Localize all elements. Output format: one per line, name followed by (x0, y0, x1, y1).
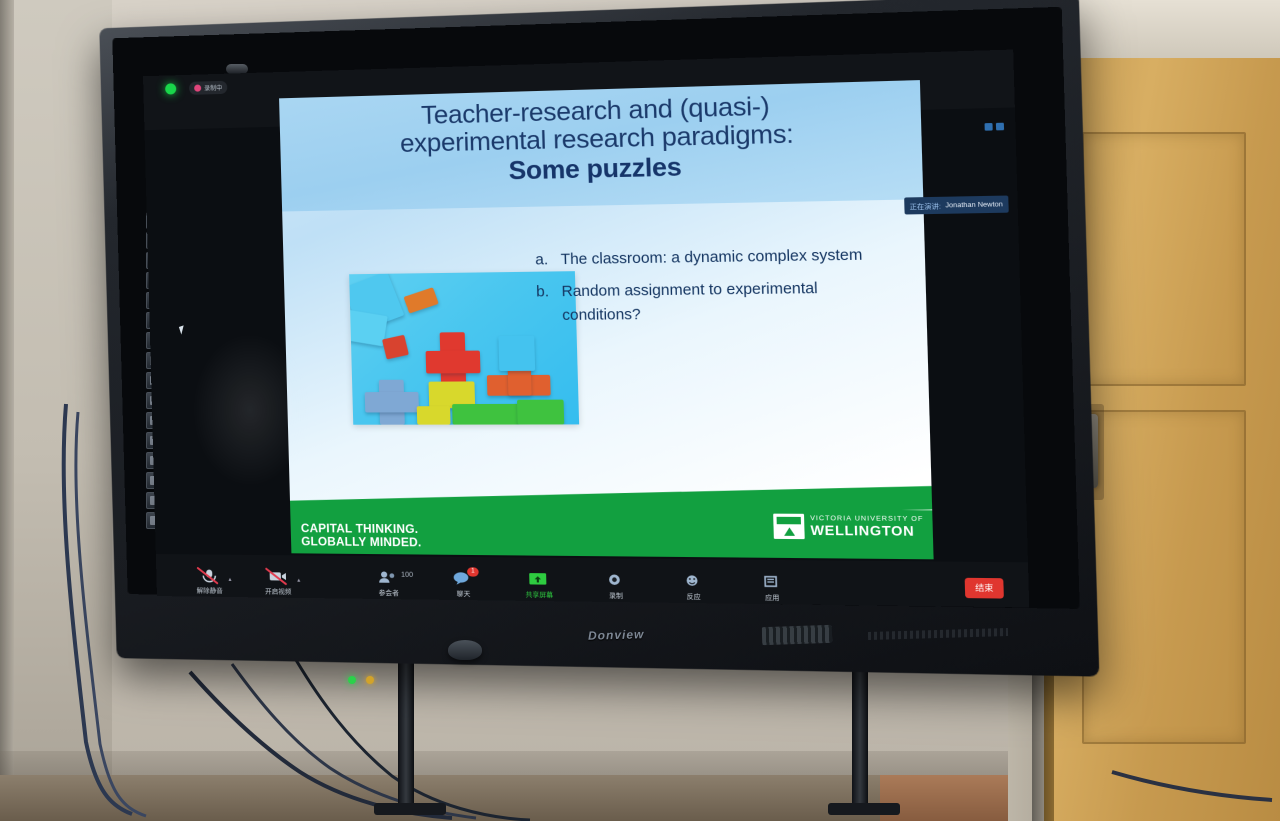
bullet-marker: a. (535, 249, 550, 272)
computer-mouse[interactable] (448, 640, 482, 660)
bullet-text: The classroom: a dynamic complex system (560, 244, 862, 272)
vuw-wordmark: VICTORIA UNIVERSITY OF WELLINGTON (810, 516, 924, 539)
chat-button[interactable]: 1聊天 (439, 571, 488, 598)
participant-count: 100 (401, 572, 413, 579)
chevron-up-icon[interactable]: ▴ (297, 577, 300, 584)
university-logo: VICTORIA UNIVERSITY OF WELLINGTON (774, 514, 924, 540)
apps-icon (761, 575, 783, 590)
control-label: 开启视频 (265, 585, 292, 595)
tv-brand-label: Donview (588, 627, 645, 643)
vuw-line2: WELLINGTON (810, 524, 924, 539)
tv-stand-foot-right (828, 803, 900, 815)
tv-screen[interactable]: 录制中 您正在观看 Jonathan Newton 的共享屏幕 视图选项 ▾ T… (143, 50, 1029, 608)
puzzle-block (452, 404, 520, 425)
unread-badge: 1 (467, 567, 479, 576)
video-camera-muted-button[interactable]: ▴开启视频 (254, 569, 301, 596)
chevron-up-icon[interactable]: ▴ (228, 576, 231, 583)
slide-bullet-item: a.The classroom: a dynamic complex syste… (535, 244, 873, 272)
door-panel-upper (1082, 132, 1246, 386)
indicator-icon (985, 123, 993, 131)
screen-share-mini-indicators (985, 123, 1005, 131)
wall-left (0, 0, 112, 821)
record-dot-icon (194, 85, 201, 92)
puzzle-block (517, 400, 564, 425)
tv-stand-foot-left (374, 803, 446, 815)
record-button[interactable]: 录制 (591, 573, 641, 601)
puzzle-block (426, 351, 481, 374)
wall-corner (0, 0, 14, 821)
slide-title: Teacher-research and (quasi-) experiment… (308, 89, 894, 189)
puzzle-block (498, 336, 535, 371)
share-screen-icon (528, 572, 550, 587)
vuw-crest-icon (774, 514, 806, 540)
recording-indicator[interactable]: 录制中 (189, 81, 227, 95)
puzzle-block (382, 335, 409, 360)
speaker-tag-label: 正在演讲: (909, 200, 941, 211)
participants-icon: 100 (378, 570, 399, 585)
microphone-muted-button[interactable]: ▴解除静音 (186, 568, 233, 595)
record-icon (605, 573, 627, 588)
door-panel-lower (1082, 410, 1246, 744)
tv-stand-leg-left (398, 640, 414, 810)
tagline-line2: GLOBALLY MINDED. (301, 536, 422, 550)
control-label: 解除静音 (197, 585, 223, 595)
chat-icon: 1 (452, 571, 473, 586)
control-label: 聊天 (457, 588, 471, 598)
reactions-icon (682, 574, 704, 589)
apps-button[interactable]: 应用 (746, 574, 797, 602)
microphone-muted-icon: ▴ (199, 568, 219, 582)
zoom-meeting-window[interactable]: 录制中 您正在观看 Jonathan Newton 的共享屏幕 视图选项 ▾ T… (143, 50, 1029, 608)
tv-power-led-icon (348, 676, 356, 684)
bullet-marker: b. (536, 281, 552, 328)
tv-status-led-icon (366, 676, 374, 684)
control-label: 参会者 (379, 587, 399, 597)
meeting-room-photo: Donview 录制中 您正在观看 Jonathan Newton 的共享屏幕 … (0, 0, 1280, 821)
end-meeting-button[interactable]: 结束 (965, 578, 1004, 599)
speaker-tag-name: Jonathan Newton (945, 200, 1003, 209)
control-label: 录制 (609, 590, 623, 601)
control-label: 应用 (765, 591, 780, 602)
slide-bullet-item: b.Random assignment to experimental cond… (536, 277, 874, 328)
zoom-main-controls[interactable]: 100参会者1聊天共享屏幕录制反应应用 (364, 570, 797, 602)
bullet-text: Random assignment to experimental condit… (561, 277, 874, 328)
shared-slide: Teacher-research and (quasi-) experiment… (279, 80, 934, 559)
video-camera-muted-icon: ▴ (268, 569, 289, 583)
keyboard-tray[interactable] (762, 625, 833, 645)
participants-button[interactable]: 100参会者 (364, 570, 412, 597)
puzzle-block (403, 287, 438, 313)
tagline-line1: CAPITAL THINKING. (301, 523, 422, 537)
control-label: 反应 (686, 590, 700, 601)
recording-label: 录制中 (204, 83, 222, 93)
reactions-button[interactable]: 反应 (668, 574, 719, 602)
indicator-icon (996, 123, 1004, 131)
control-label: 共享屏幕 (525, 589, 553, 600)
share-screen-button[interactable]: 共享屏幕 (514, 572, 563, 599)
slide-tagline: CAPITAL THINKING. GLOBALLY MINDED. (301, 523, 422, 551)
zoom-av-controls[interactable]: ▴解除静音▴开启视频 (186, 568, 302, 596)
puzzle-block (417, 406, 451, 424)
puzzle-block (365, 392, 419, 413)
active-speaker-tag: 正在演讲: Jonathan Newton (904, 196, 1009, 215)
slide-bullet-list: a.The classroom: a dynamic complex syste… (535, 244, 874, 337)
